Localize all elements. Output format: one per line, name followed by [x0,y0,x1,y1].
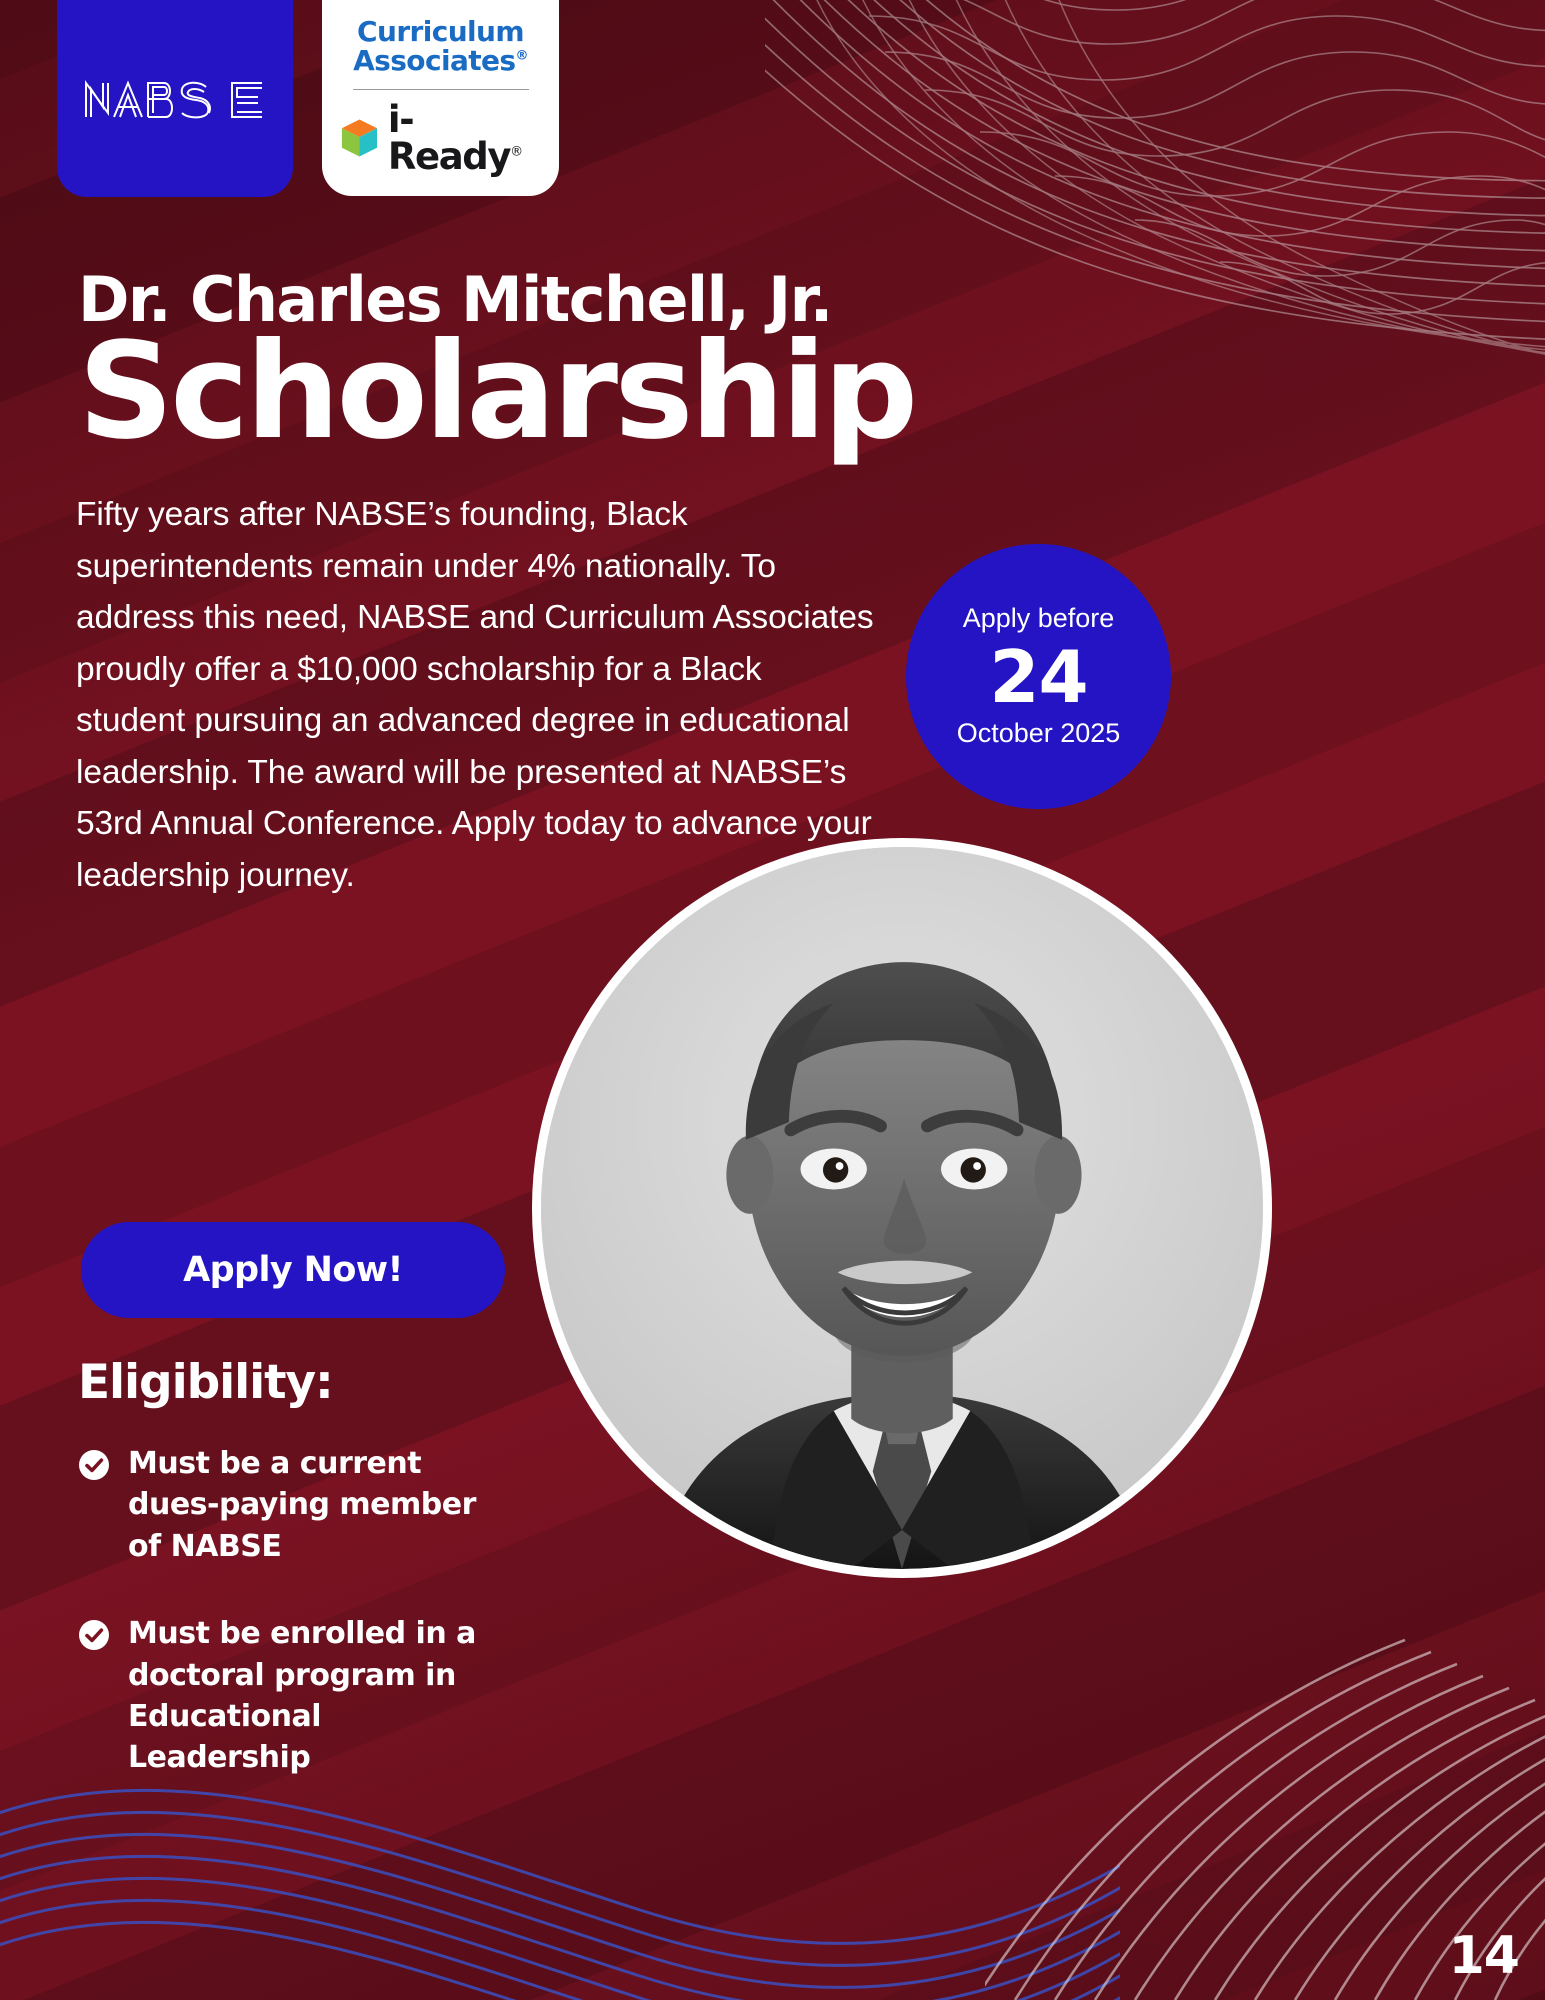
portrait-photo [532,838,1272,1578]
ca-registered-mark: ® [515,49,527,64]
nabse-wordmark-icon [80,69,270,129]
list-item: Must be a current dues-paying member of … [78,1443,498,1567]
portrait-illustration-icon [541,847,1263,1569]
ca-line-1: Curriculum [338,17,543,47]
iready-logo: i-Ready® [338,101,543,175]
iready-registered-mark: ® [510,145,522,160]
page-number: 14 [1449,1926,1519,1986]
eligibility-heading: Eligibility: [78,1355,333,1410]
check-circle-icon [78,1449,110,1481]
logo-row: Curriculum Associates® i-Ready® [57,0,559,197]
description-paragraph: Fifty years after NABSE’s founding, Blac… [76,489,876,902]
curriculum-associates-wordmark: Curriculum Associates® [338,17,543,76]
ca-line-2-wrap: Associates® [338,46,543,76]
eligibility-item-text: Must be enrolled in a doctoral program i… [128,1613,498,1779]
deadline-month-year: October 2025 [957,719,1121,749]
page-title: Scholarship [78,327,1128,457]
deadline-badge: Apply before 24 October 2025 [906,544,1171,809]
portrait-image [541,847,1263,1569]
iready-wordmark: i-Ready® [388,101,543,175]
iready-text: i-Ready [388,98,510,178]
headline-block: Dr. Charles Mitchell, Jr. Scholarship [78,268,1128,458]
eligibility-item-text: Must be a current dues-paying member of … [128,1443,498,1567]
logo-divider [353,89,529,91]
eligibility-list: Must be a current dues-paying member of … [78,1443,498,1825]
nabse-logo [57,0,293,197]
deadline-day: 24 [989,639,1087,717]
list-item: Must be enrolled in a doctoral program i… [78,1613,498,1779]
apply-now-button[interactable]: Apply Now! [81,1222,505,1318]
deadline-label: Apply before [963,604,1115,634]
ca-line-2: Associates [353,44,515,77]
iready-cube-icon [338,116,381,160]
check-circle-icon [78,1619,110,1651]
curriculum-associates-logo: Curriculum Associates® i-Ready® [322,0,559,196]
scholarship-flyer: Curriculum Associates® i-Ready® Dr. Char… [0,0,1545,2000]
